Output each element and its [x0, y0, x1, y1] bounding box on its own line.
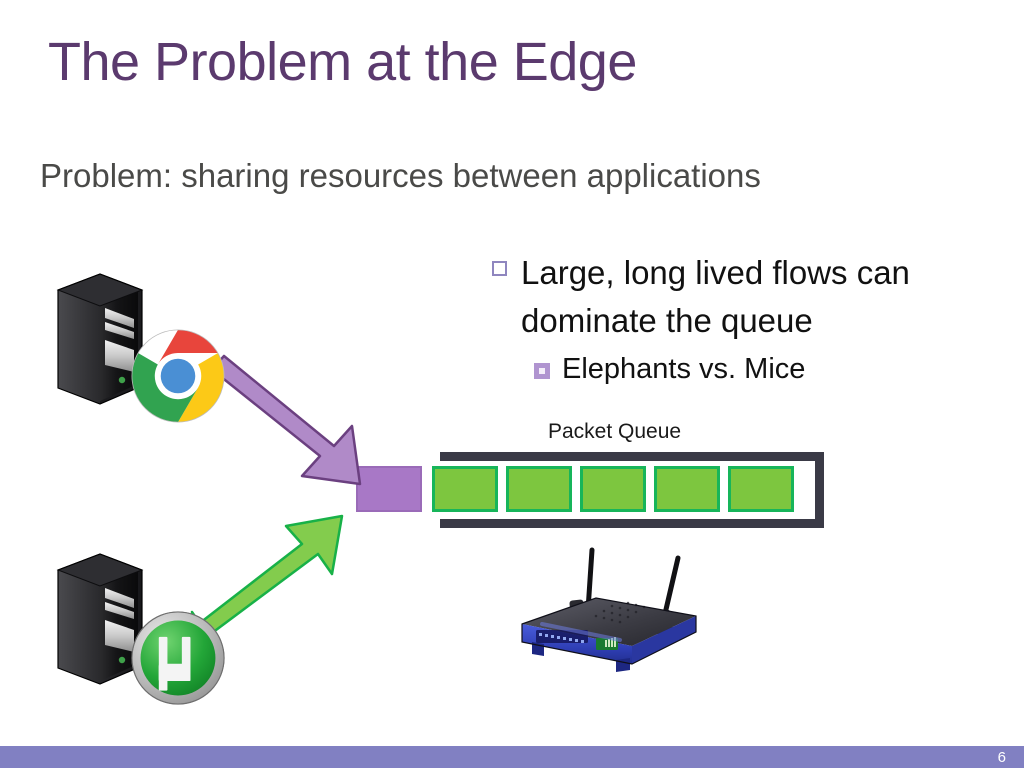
bullet-text-secondary: Elephants vs. Mice — [562, 350, 805, 389]
presentation-slide: The Problem at the Edge Problem: sharing… — [0, 0, 1024, 768]
list-item: Large, long lived flows can dominate the… — [492, 249, 1002, 345]
green-packet-1 — [432, 466, 498, 512]
packet-queue-diagram — [356, 450, 826, 530]
packet-queue-label: Packet Queue — [548, 420, 681, 444]
green-packet-3 — [580, 466, 646, 512]
page-title: The Problem at the Edge — [48, 33, 948, 92]
queue-frame-top-bar — [440, 452, 824, 461]
bullet-list: Large, long lived flows can dominate the… — [492, 249, 1002, 389]
bullet-text-primary: Large, long lived flows can dominate the… — [521, 249, 1002, 345]
green-packet-4 — [654, 466, 720, 512]
chrome-icon — [130, 328, 226, 424]
queue-frame-bottom-bar — [440, 519, 824, 528]
desktop-computer-utorrent — [42, 548, 232, 708]
hollow-square-bullet-icon — [492, 261, 507, 276]
filled-square-bullet-icon — [534, 363, 550, 379]
queue-frame-right-bar — [815, 452, 824, 528]
slide-subtitle: Problem: sharing resources between appli… — [40, 157, 980, 195]
green-packet-5 — [728, 466, 794, 512]
desktop-computer-chrome — [42, 268, 232, 428]
green-packet-2 — [506, 466, 572, 512]
footer-bar — [0, 746, 1024, 768]
list-item: Elephants vs. Mice — [534, 350, 1002, 389]
wireless-router-icon — [492, 532, 712, 682]
slide-number: 6 — [998, 749, 1006, 766]
utorrent-icon — [130, 610, 226, 706]
